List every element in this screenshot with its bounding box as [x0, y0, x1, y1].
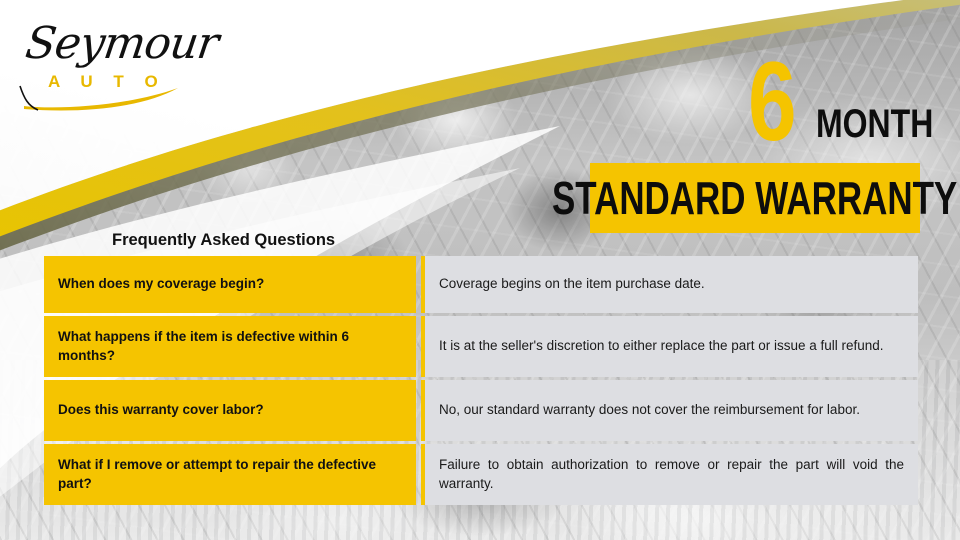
- faq-answer-text: It is at the seller's discretion to eith…: [439, 337, 904, 356]
- faq-question-cell: Does this warranty cover labor?: [44, 380, 416, 441]
- faq-question-text: What if I remove or attempt to repair th…: [58, 456, 402, 492]
- logo-wordmark: Seymour: [22, 18, 221, 69]
- faq-question-text: Does this warranty cover labor?: [58, 401, 264, 419]
- table-row: What if I remove or attempt to repair th…: [44, 444, 918, 505]
- seymour-auto-logo[interactable]: Seymour A U T O: [18, 16, 218, 111]
- faq-answer-cell: It is at the seller's discretion to eith…: [421, 316, 918, 377]
- standard-warranty-label: STANDARD WARRANTY: [552, 175, 957, 221]
- faq-answer-text: No, our standard warranty does not cover…: [439, 401, 904, 420]
- faq-answer-cell: Failure to obtain authorization to remov…: [421, 444, 918, 505]
- table-row: Does this warranty cover labor? No, our …: [44, 380, 918, 441]
- faq-question-cell: What happens if the item is defective wi…: [44, 316, 416, 377]
- warranty-slide: Seymour A U T O 6 MONTH STANDARD WARRANT…: [0, 0, 960, 540]
- faq-answer-text: Coverage begins on the item purchase dat…: [439, 275, 904, 294]
- faq-question-cell: What if I remove or attempt to repair th…: [44, 444, 416, 505]
- faq-question-text: What happens if the item is defective wi…: [58, 328, 402, 364]
- faq-question-cell: When does my coverage begin?: [44, 256, 416, 313]
- faq-answer-text: Failure to obtain authorization to remov…: [439, 456, 904, 494]
- table-row: What happens if the item is defective wi…: [44, 316, 918, 377]
- faq-answer-cell: No, our standard warranty does not cover…: [421, 380, 918, 441]
- faq-heading: Frequently Asked Questions: [112, 231, 335, 250]
- warranty-duration-number: 6: [748, 46, 795, 158]
- faq-question-text: When does my coverage begin?: [58, 275, 264, 293]
- faq-table: When does my coverage begin? Coverage be…: [44, 256, 918, 508]
- table-row: When does my coverage begin? Coverage be…: [44, 256, 918, 313]
- standard-warranty-banner: STANDARD WARRANTY: [590, 163, 920, 233]
- logo-subtext: A U T O: [48, 72, 166, 92]
- faq-answer-cell: Coverage begins on the item purchase dat…: [421, 256, 918, 313]
- warranty-duration-unit: MONTH: [816, 104, 933, 144]
